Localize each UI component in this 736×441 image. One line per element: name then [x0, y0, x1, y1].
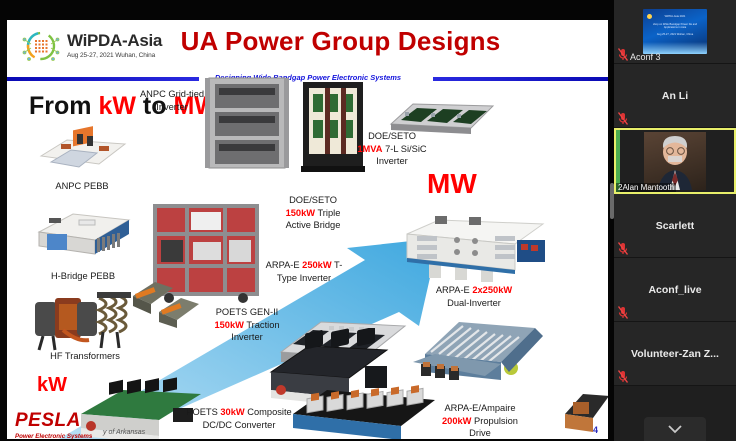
shared-slide-thumbnail: WiPDA-Asia 2021 shop on Wide Bandgap Pow… — [643, 9, 707, 54]
participant-tile-scarlett[interactable]: Scarlett — [614, 194, 736, 258]
participant-tile-volunteer-zan[interactable]: Volunteer-Zan Z... — [614, 322, 736, 386]
photo-edge-module — [563, 384, 608, 436]
slide-header: WiPDA-Asia Aug 25-27, 2021 Wuhan, China … — [7, 20, 608, 72]
participant-tile-aconf-3[interactable]: WiPDA-Asia 2021 shop on Wide Bandgap Pow… — [614, 0, 736, 64]
mic-muted-icon — [617, 48, 629, 61]
participant-sidebar[interactable]: WiPDA-Asia 2021 shop on Wide Bandgap Pow… — [614, 0, 736, 441]
caption-doe-seto-tab: DOE/SETO 150kW Triple Active Bridge — [257, 194, 369, 232]
mic-muted-icon — [617, 370, 629, 383]
photo-arpa-e-ampaire-propulsion-drive — [405, 314, 555, 400]
thumb-date: Aug 25-27, 2021 Wuhan, China — [646, 33, 704, 36]
participant-tile-an-li[interactable]: An Li — [614, 64, 736, 128]
headline-prefix: From — [29, 92, 98, 120]
thumb-title: WiPDA-Asia 2021 — [646, 15, 704, 18]
caption-arpa-e-dual: ARPA-E 2x250kW Dual-Inverter — [399, 284, 549, 309]
caption-arpa-e-ampaire: ARPA-E/Ampaire 200kW Propulsion Drive — [405, 402, 555, 439]
participant-name: Volunteer-Zan Z... — [631, 348, 719, 360]
photo-anpc-pebb — [37, 122, 129, 178]
scroll-down-button[interactable] — [644, 417, 706, 441]
slide-title: UA Power Group Designs — [7, 26, 608, 57]
participant-tile-aconf-live[interactable]: Aconf_live — [614, 258, 736, 322]
participant-name: Aconf 3 — [630, 52, 661, 62]
participant-tile-alan-mantooth[interactable]: 2Alan Mantooth — [614, 128, 736, 194]
mic-muted-icon — [617, 112, 629, 125]
caption-anpc-grid-tied: ANPC Grid-tied Inverter — [117, 88, 227, 113]
thumb-subtitle: shop on Wide Bandgap Power De and Applic… — [646, 23, 704, 30]
photo-hf-transformers — [25, 284, 143, 354]
slide-number: 4 — [593, 425, 598, 435]
presentation-slide: WiPDA-Asia Aug 25-27, 2021 Wuhan, China … — [7, 20, 608, 439]
caption-arpa-e-t-type: ARPA-E 250kW T- Type Inverter — [239, 259, 369, 284]
participant-name: Scarlett — [656, 220, 695, 232]
photo-h-bridge-pebb — [33, 206, 133, 268]
scale-high-label: MW — [427, 168, 477, 200]
rule-left — [7, 77, 199, 81]
mic-muted-icon — [617, 242, 629, 255]
conference-window: WiPDA-Asia Aug 25-27, 2021 Wuhan, China … — [0, 0, 736, 441]
caption-hf-transformers: HF Transformers — [25, 350, 145, 363]
caption-poets-gen-ii: POETS GEN-II 150kW Traction Inverter — [185, 306, 309, 344]
participant-name: Aconf_live — [648, 284, 701, 296]
participant-video — [644, 132, 706, 190]
participant-name: 2Alan Mantooth — [616, 183, 676, 192]
caption-h-bridge-pebb: H-Bridge PEBB — [23, 270, 143, 283]
chevron-down-icon — [667, 424, 683, 434]
photo-arpa-e-dual-inverter — [399, 204, 551, 286]
caption-doe-seto-1mva: DOE/SETO 1MVA 7-L Si/SiC Inverter — [327, 130, 457, 168]
scale-low-label: kW — [37, 374, 67, 397]
rule-right — [433, 77, 608, 81]
shared-screen-stage[interactable]: WiPDA-Asia Aug 25-27, 2021 Wuhan, China … — [0, 0, 614, 441]
caption-anpc-pebb: ANPC PEBB — [27, 180, 137, 193]
participant-name: An Li — [662, 90, 688, 102]
university-label: y of Arkansas — [103, 429, 145, 436]
mic-muted-icon — [617, 306, 629, 319]
slide-body: From kW to MW MW kW — [7, 84, 608, 439]
